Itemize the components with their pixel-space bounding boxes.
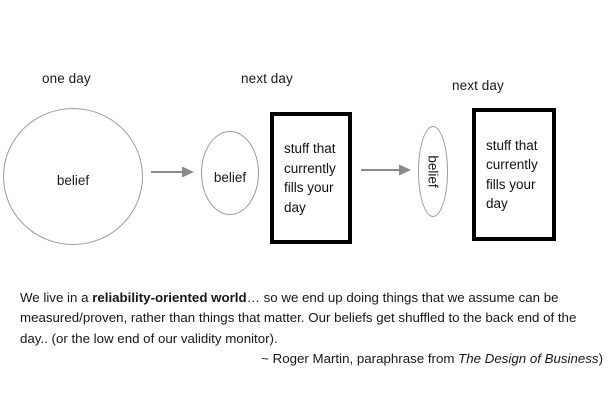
caption-attribution: ~ Roger Martin, paraphrase from The Desi… [20,349,605,369]
caption-attribution-suffix: ) [599,351,603,366]
shape-belief-narrow-ellipse: belief [418,126,448,217]
shape-stuff-box-second: stuff that currently fills your day [472,108,556,241]
caption-part-one: We live in a [20,290,92,305]
caption-bold-phrase: reliability-oriented world [92,290,246,305]
label-one-day: one day [42,71,91,86]
caption-block: We live in a reliability-oriented world…… [20,288,605,369]
shape-belief-medium-ellipse: belief [201,131,259,215]
arrow-right-icon [361,163,412,177]
label-next-day-first: next day [241,71,293,86]
shape-stuff-box-first: stuff that currently fills your day [270,112,352,244]
arrow-right-first [151,165,195,179]
shape-belief-large-circle: belief [3,108,143,245]
shape-belief-medium-label: belief [214,170,246,185]
caption-body: We live in a reliability-oriented world…… [20,288,605,349]
caption-attribution-prefix: ~ Roger Martin, paraphrase from [261,351,458,366]
shape-belief-large-label: belief [57,173,89,188]
arrow-right-second [361,163,412,177]
shape-stuff-box-first-label: stuff that currently fills your day [274,139,348,217]
shape-belief-narrow-label: belief [426,155,441,187]
label-next-day-second: next day [452,78,504,93]
slide-canvas: one day next day next day belief belief … [0,0,612,404]
shape-stuff-box-second-label: stuff that currently fills your day [476,136,552,214]
caption-attribution-title: The Design of Business [458,351,598,366]
arrow-right-icon [151,165,195,179]
